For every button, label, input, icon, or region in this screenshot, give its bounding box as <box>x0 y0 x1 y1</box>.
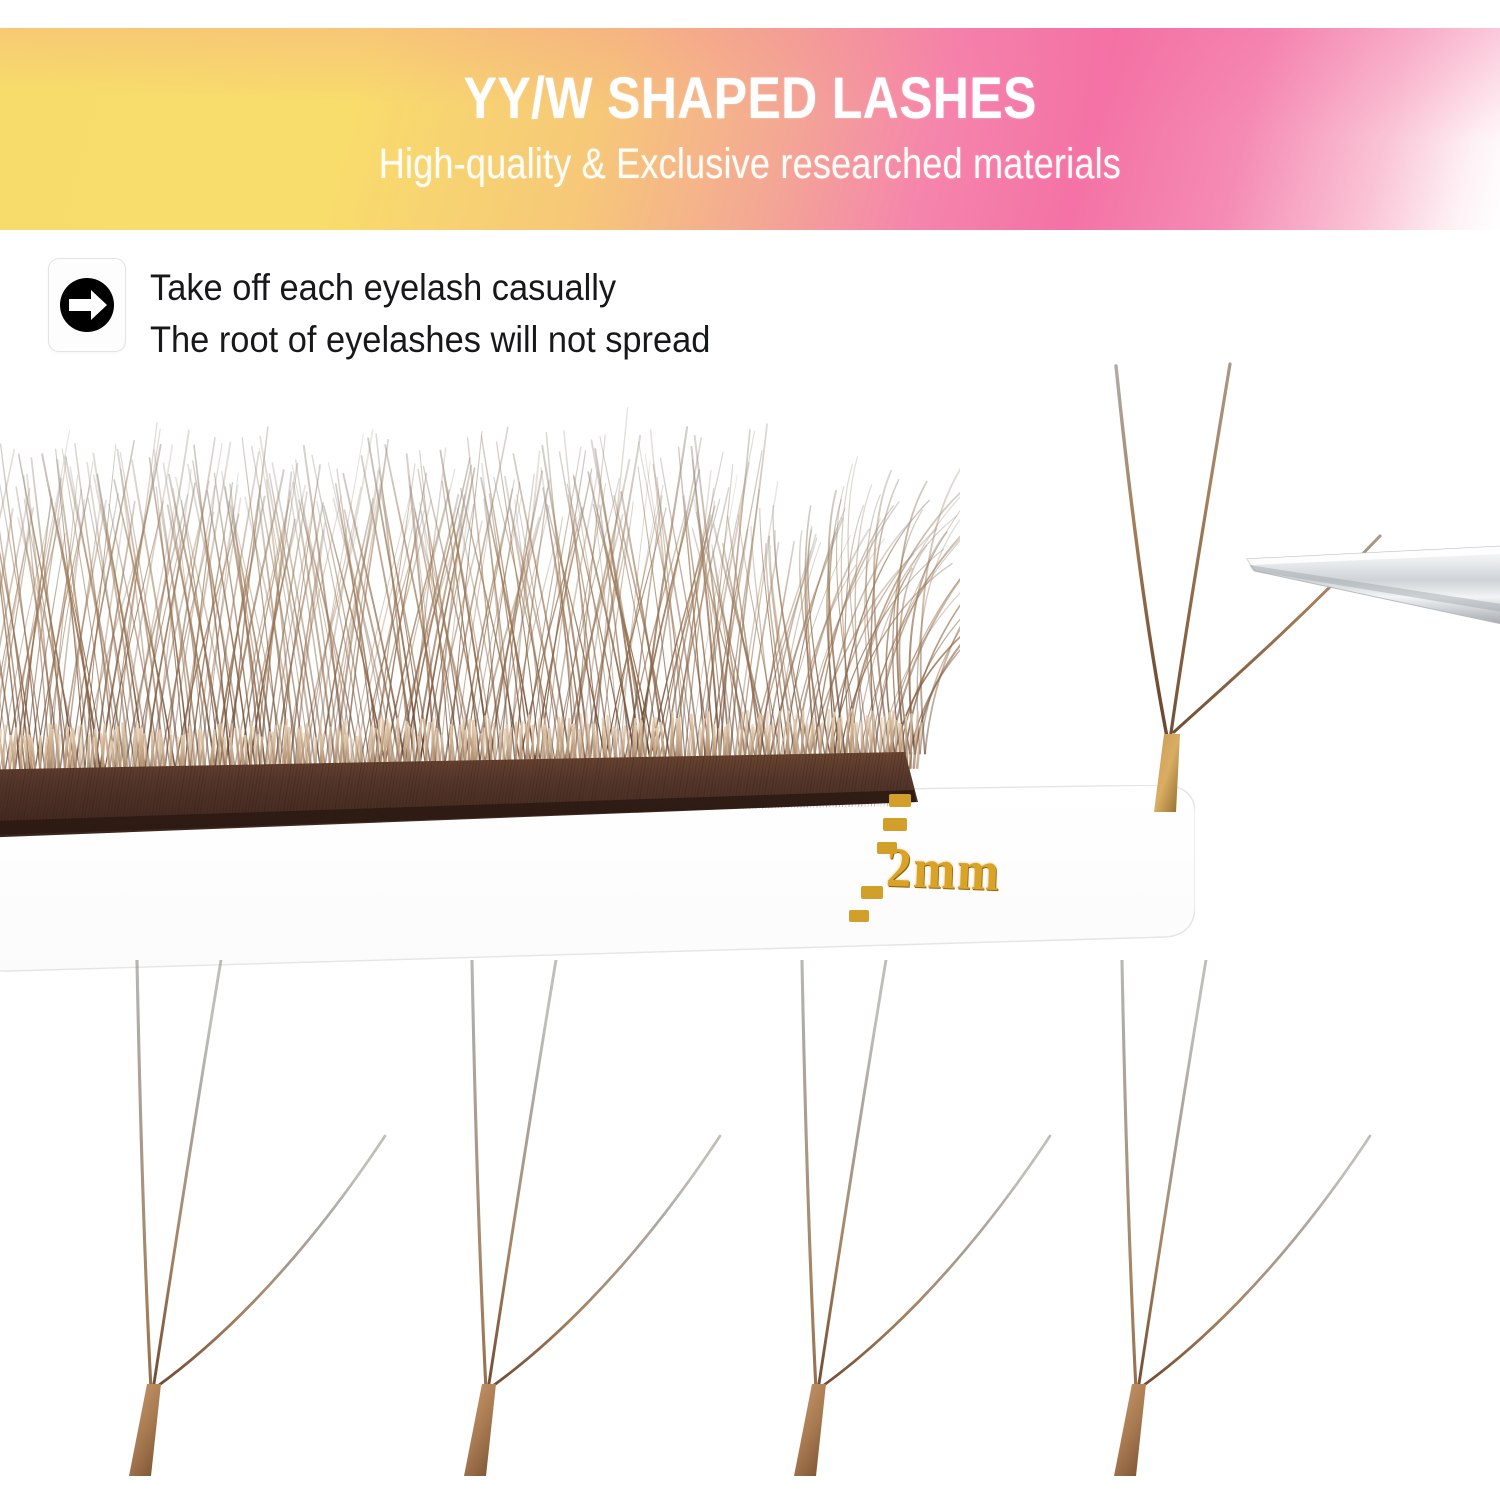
w-lash-cluster-row <box>0 960 1500 1500</box>
instruction-line-1: Take off each eyelash casually <box>150 262 710 314</box>
lash-fiber <box>137 960 151 1390</box>
tweezers <box>1245 545 1500 675</box>
lash-base-stem <box>464 1384 496 1476</box>
instruction-line-2: The root of eyelashes will not spread <box>150 314 710 366</box>
page-subtitle: High-quality & Exclusive researched mate… <box>379 140 1121 189</box>
arrow-right-circle-icon <box>48 258 126 352</box>
product-photo-stage: 2mm <box>0 360 1500 1500</box>
lash-fiber <box>153 960 221 1390</box>
lash-fiber <box>488 960 556 1390</box>
lash-fiber <box>818 960 886 1390</box>
lash-fiber <box>1122 960 1136 1390</box>
w-lash-cluster-4 <box>1040 960 1460 1500</box>
lash-base-stem <box>1114 1384 1146 1476</box>
instruction-lines: Take off each eyelash casually The root … <box>150 258 753 366</box>
lash-fiber <box>802 960 816 1390</box>
lash-fiber <box>1140 1136 1370 1388</box>
lash-fiber <box>490 1136 720 1388</box>
page-title: YY/W SHAPED LASHES <box>463 69 1036 129</box>
lash-fiber <box>820 1136 1050 1388</box>
instruction-block: Take off each eyelash casually The root … <box>48 258 753 366</box>
foil-dot-marks <box>845 790 965 930</box>
lash-fiber <box>1138 960 1206 1390</box>
lash-strip <box>0 370 960 880</box>
lash-fiber <box>155 1136 385 1388</box>
header-banner: YY/W SHAPED LASHES High-quality & Exclus… <box>0 28 1500 230</box>
lash-fiber <box>472 960 486 1390</box>
lash-base-stem <box>129 1384 161 1476</box>
lash-base-stem <box>794 1384 826 1476</box>
